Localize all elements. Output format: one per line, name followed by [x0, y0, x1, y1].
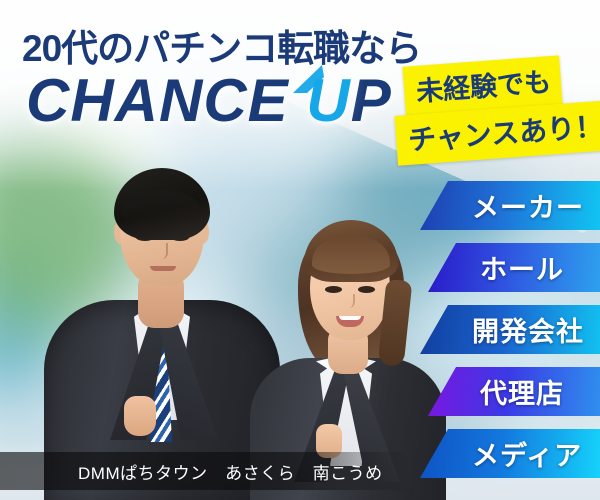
category-button-media[interactable]: メディア [420, 429, 600, 478]
category-label-hall: ホール [480, 248, 564, 287]
category-button-maker[interactable]: メーカー [420, 181, 600, 230]
logo-chance-up: CHANCE UP [26, 66, 392, 135]
model-credit-label: DMMぱちタウン あさくら 南こうめ [78, 459, 383, 484]
logo-u-letter: U [306, 67, 350, 134]
female-teeth [339, 316, 361, 320]
category-button-hall[interactable]: ホール [428, 243, 600, 292]
category-button-agency[interactable]: 代理店 [428, 367, 600, 416]
recruitment-banner: 20代のパチンコ転職なら CHANCE UP 未経験でも チャンスあり！ メーカ… [0, 0, 600, 500]
male-nose [158, 243, 168, 259]
male-hand [124, 396, 156, 436]
headline-text: 20代のパチンコ転職なら [22, 18, 421, 72]
category-button-development[interactable]: 開発会社 [420, 305, 600, 354]
model-credit-bar: DMMぱちタウン あさくら 南こうめ [0, 452, 410, 490]
headline-label: 20代のパチンコ転職なら [22, 28, 421, 69]
badge-line-2-label: チャンスあり！ [407, 111, 600, 156]
category-label-development: 開発会社 [472, 310, 584, 349]
category-label-agency: 代理店 [480, 372, 564, 411]
badge-line-1-label: 未経験でも [415, 67, 552, 107]
male-mouth [150, 266, 176, 271]
female-eye-right [358, 286, 375, 293]
category-label-media: メディア [472, 434, 582, 473]
category-label-maker: メーカー [472, 186, 584, 225]
female-hair-bangs [312, 236, 390, 274]
logo-chance-label: CHANCE [26, 67, 306, 134]
female-eye-left [325, 286, 342, 293]
logo-p-letter: P [351, 67, 392, 134]
